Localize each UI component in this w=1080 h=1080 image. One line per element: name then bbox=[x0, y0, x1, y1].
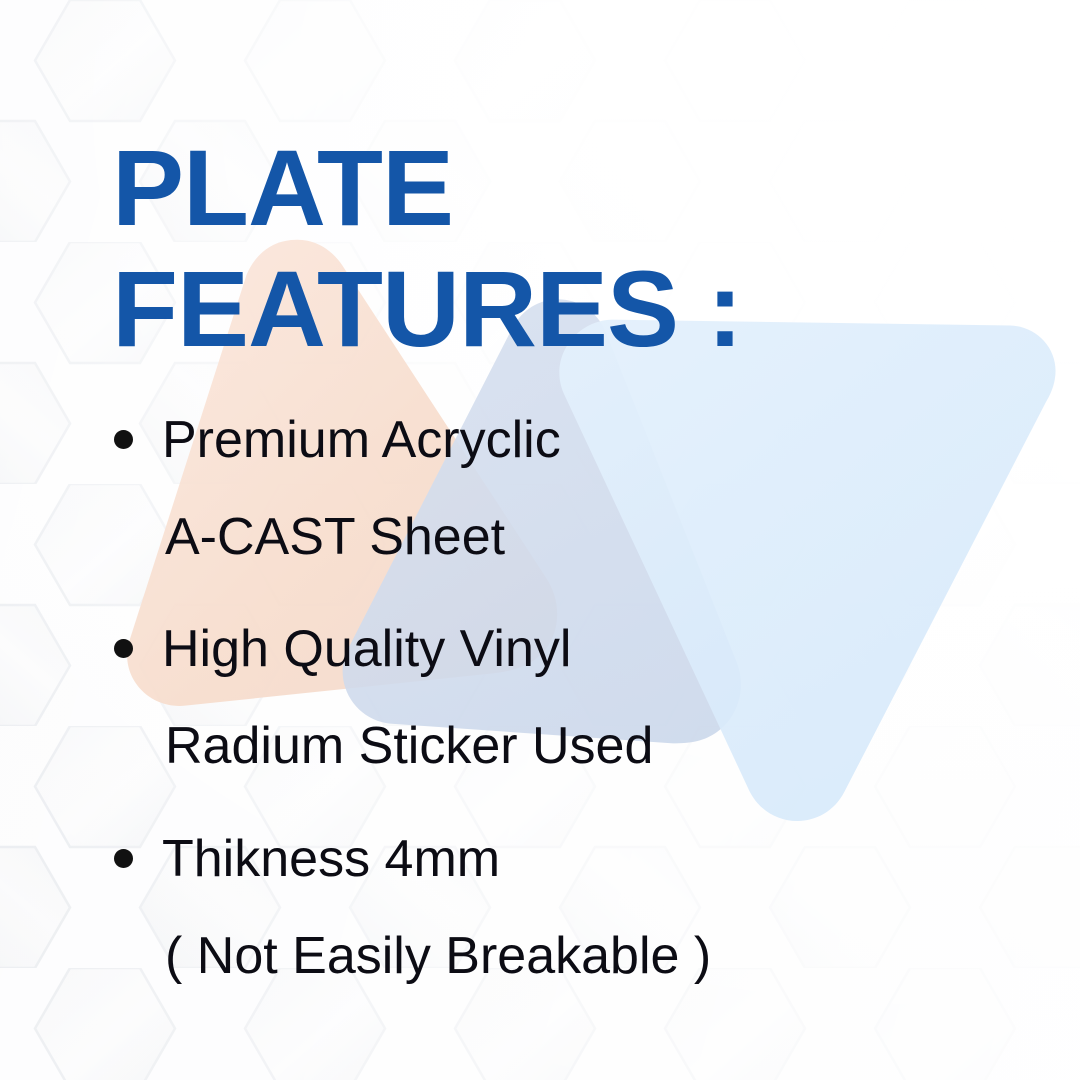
list-item: High Quality Vinyl Radium Sticker Used bbox=[100, 601, 1020, 794]
feature-text-line-2: ( Not Easily Breakable ) bbox=[165, 908, 1020, 1005]
feature-text-line-1: Premium Acryclic bbox=[162, 392, 1020, 489]
product-feature-poster: PLATE FEATURES : Premium Acryclic A-CAST… bbox=[0, 0, 1080, 1080]
bullet-icon bbox=[114, 430, 133, 449]
page-title: PLATE FEATURES : bbox=[112, 128, 992, 370]
list-item: Premium Acryclic A-CAST Sheet bbox=[100, 392, 1020, 585]
feature-text-line-1: Thikness 4mm bbox=[162, 811, 1020, 908]
feature-text-line-2: Radium Sticker Used bbox=[165, 698, 1020, 795]
list-item: Thikness 4mm ( Not Easily Breakable ) bbox=[100, 811, 1020, 1004]
poster-content: PLATE FEATURES : Premium Acryclic A-CAST… bbox=[0, 0, 1080, 1080]
feature-text-line-2: A-CAST Sheet bbox=[165, 489, 1020, 586]
bullet-icon bbox=[114, 849, 133, 868]
bullet-icon bbox=[114, 639, 133, 658]
feature-text-line-1: High Quality Vinyl bbox=[162, 601, 1020, 698]
features-list: Premium Acryclic A-CAST Sheet High Quali… bbox=[100, 392, 1020, 1004]
